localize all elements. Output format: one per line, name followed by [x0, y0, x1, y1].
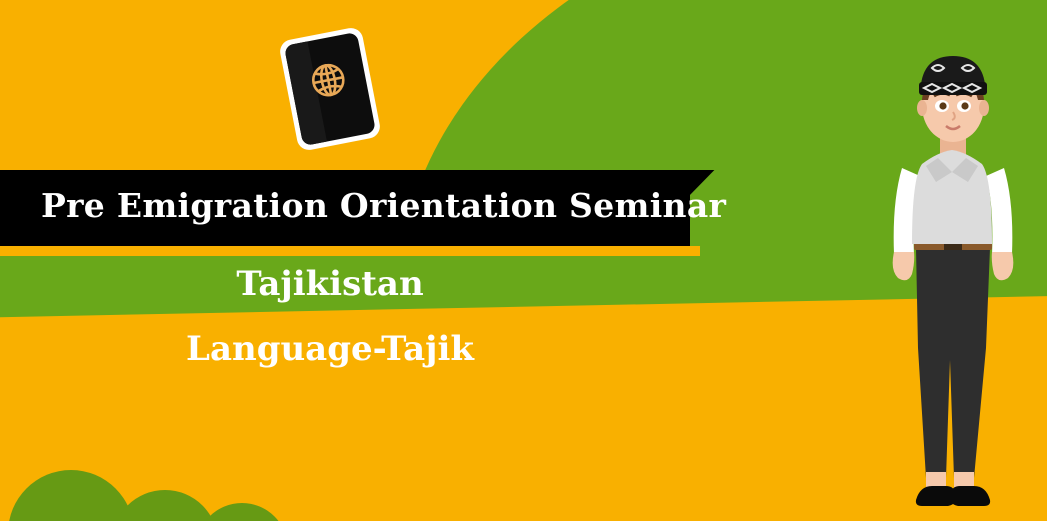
hand-right: [992, 252, 1014, 280]
tajik-man-illustration: [858, 48, 1047, 521]
page-title: Pre Emigration Orientation Seminar: [41, 186, 726, 225]
pupil-right: [961, 102, 968, 109]
title-banner-accent-strip: [0, 246, 700, 256]
poster-canvas: Pre Emigration Orientation Seminar Tajik…: [0, 0, 1047, 521]
hand-left: [893, 252, 915, 280]
shoe-right: [950, 486, 990, 506]
ear-left: [917, 100, 927, 116]
shirt-body: [912, 150, 992, 244]
language-label: Language-Tajik: [0, 329, 660, 369]
trousers: [916, 248, 990, 478]
country-label: Tajikistan: [0, 264, 660, 304]
pupil-left: [939, 102, 946, 109]
globe-icon: [305, 57, 352, 104]
ear-right: [979, 100, 989, 116]
